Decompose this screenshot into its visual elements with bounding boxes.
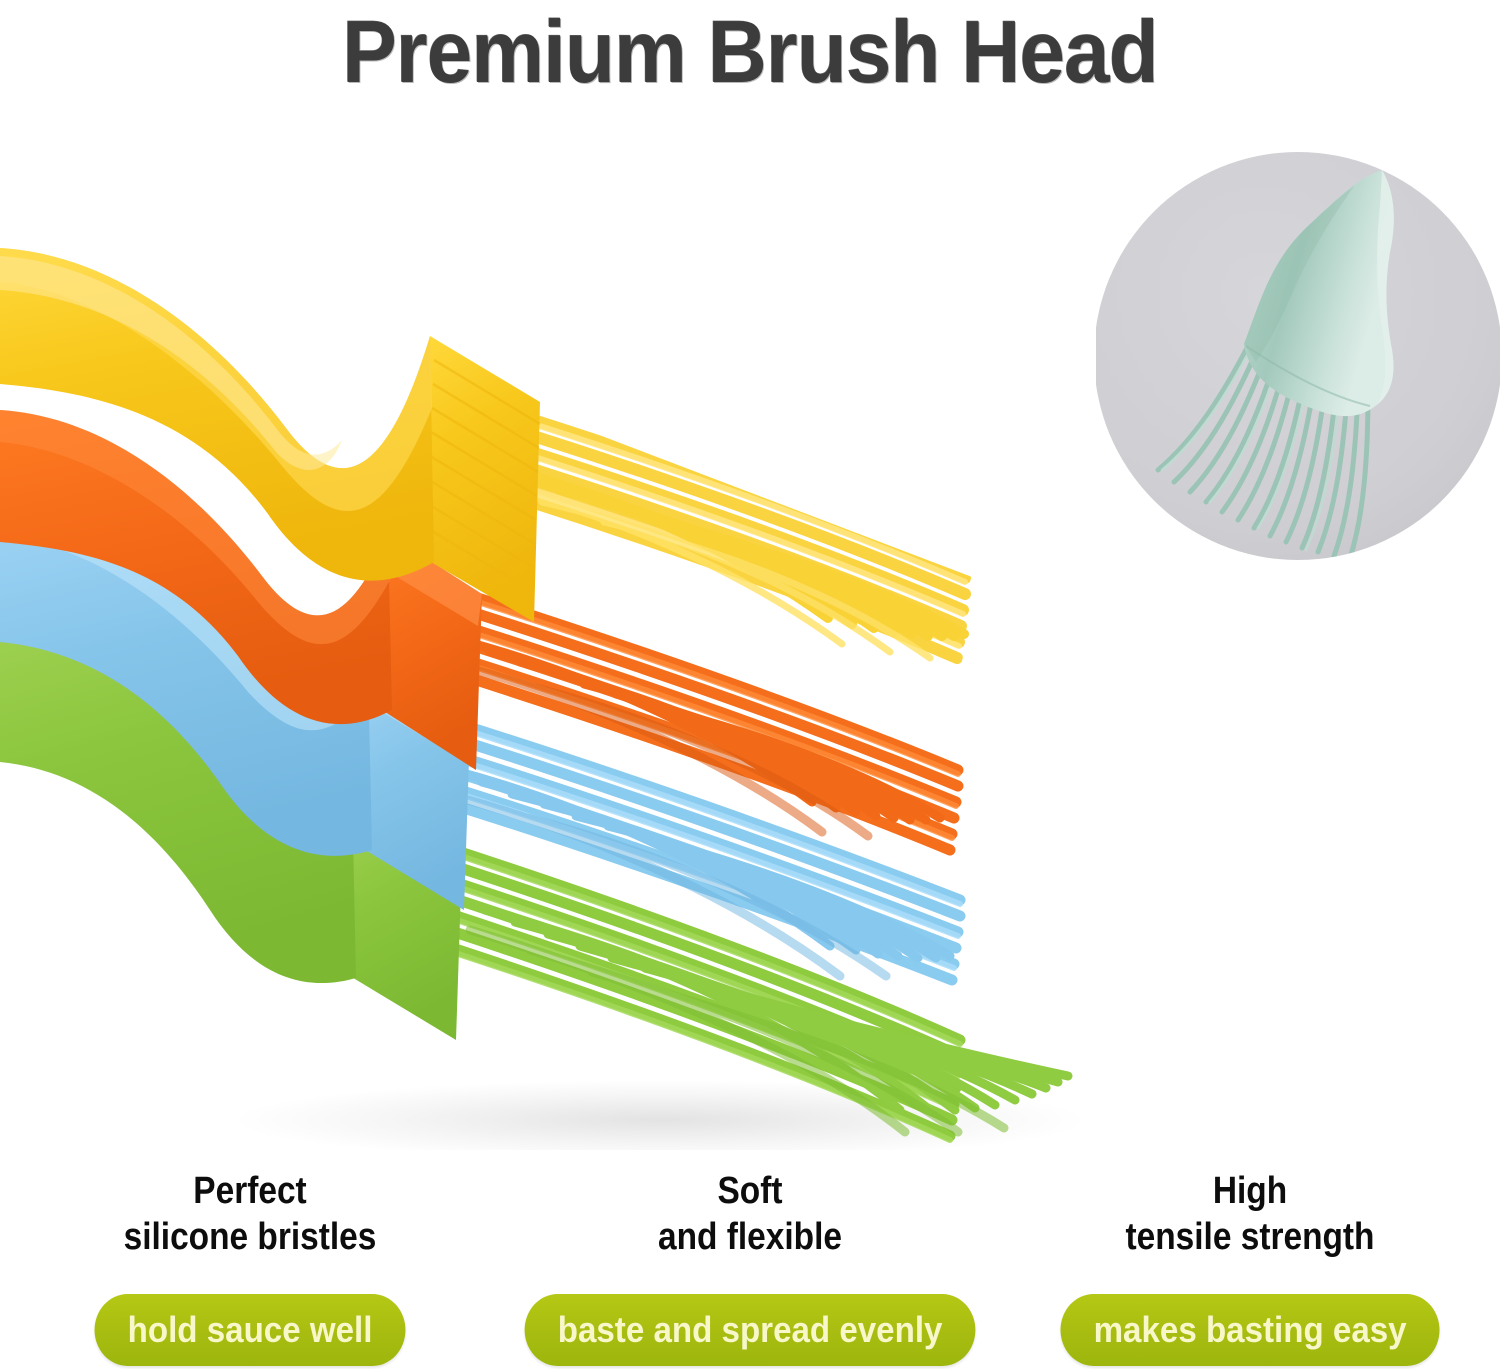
feature-label-row: Perfect silicone bristles Soft and flexi…: [0, 1168, 1500, 1278]
feature-1-line-1: Perfect: [30, 1168, 470, 1214]
feature-3-line-1: High: [1030, 1168, 1470, 1214]
feature-2-line-2: and flexible: [530, 1214, 970, 1260]
benefit-pill-hold-sauce-well: hold sauce well: [94, 1294, 405, 1366]
benefit-pill-baste-and-spread-evenly: baste and spread evenly: [525, 1294, 976, 1366]
benefit-pill-row: hold sauce well baste and spread evenly …: [0, 1292, 1500, 1368]
page-title: Premium Brush Head: [53, 2, 1448, 102]
product-shadow: [230, 1080, 1090, 1150]
feature-column-3: High tensile strength: [1000, 1168, 1500, 1278]
feature-1-line-2: silicone bristles: [30, 1214, 470, 1260]
feature-column-2: Soft and flexible: [500, 1168, 1000, 1278]
benefit-pill-makes-basting-easy: makes basting easy: [1060, 1294, 1439, 1366]
pill-cell-3: makes basting easy: [1000, 1292, 1500, 1368]
hero-product-image: [0, 110, 1500, 1150]
feature-column-1: Perfect silicone bristles: [0, 1168, 500, 1278]
feature-3-line-2: tensile strength: [1030, 1214, 1470, 1260]
pill-cell-2: baste and spread evenly: [500, 1292, 1000, 1368]
feature-2-line-1: Soft: [530, 1168, 970, 1214]
pill-cell-1: hold sauce well: [0, 1292, 500, 1368]
